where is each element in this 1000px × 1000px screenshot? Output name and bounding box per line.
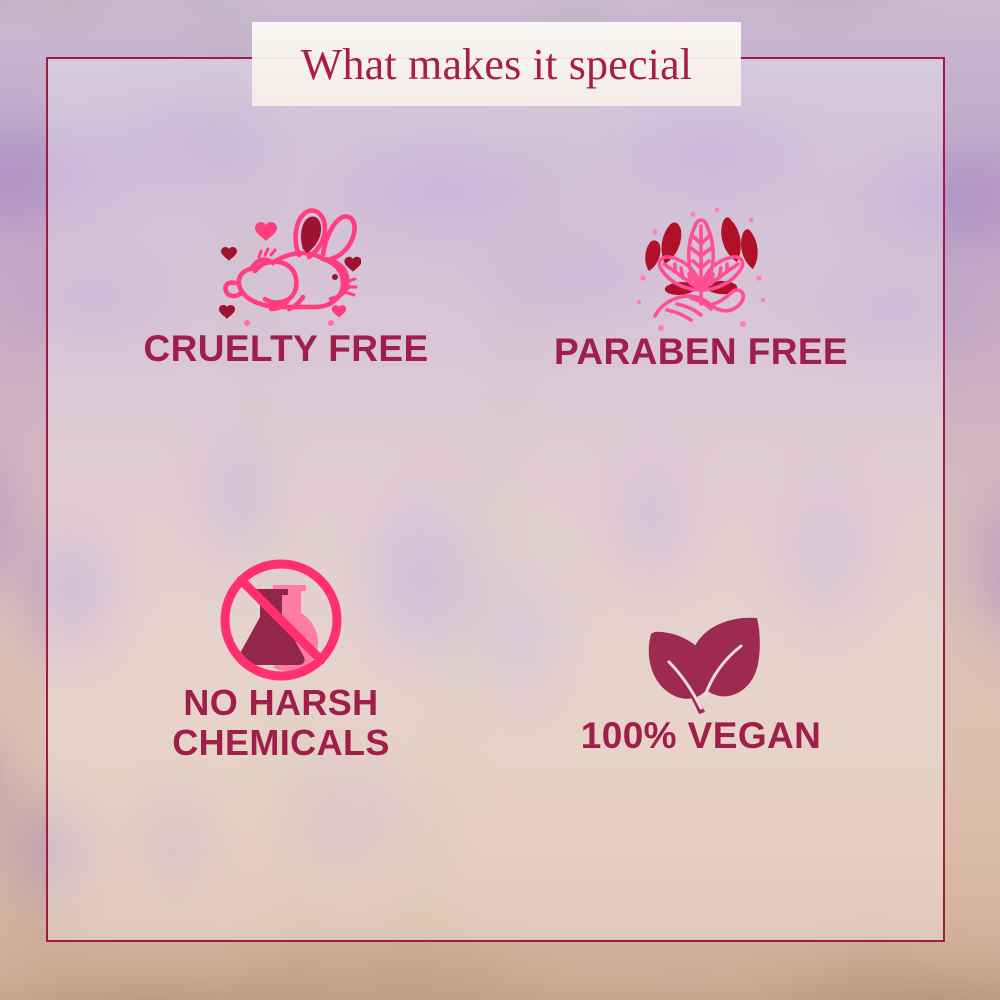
feature-label: NO HARSH CHEMICALS — [172, 683, 390, 764]
bunny-icon — [211, 197, 361, 329]
title-banner: What makes it special — [252, 22, 741, 106]
poster-canvas: CRUELTY FREE — [0, 0, 1000, 1000]
no-chemicals-icon — [218, 557, 344, 683]
feature-item-100-percent-vegan: 100% VEGAN — [516, 612, 886, 756]
feature-grid: CRUELTY FREE — [46, 57, 945, 942]
feature-label: PARABEN FREE — [554, 332, 848, 372]
feature-label: 100% VEGAN — [581, 716, 822, 756]
feature-label: CRUELTY FREE — [143, 329, 428, 369]
feature-item-no-harsh-chemicals: NO HARSH CHEMICALS — [101, 557, 461, 764]
page-title: What makes it special — [301, 43, 693, 87]
feature-item-paraben-free: PARABEN FREE — [521, 192, 881, 372]
feature-item-cruelty-free: CRUELTY FREE — [116, 197, 456, 369]
hand-holding-plant-icon — [631, 192, 771, 332]
two-leaves-icon — [639, 612, 763, 716]
